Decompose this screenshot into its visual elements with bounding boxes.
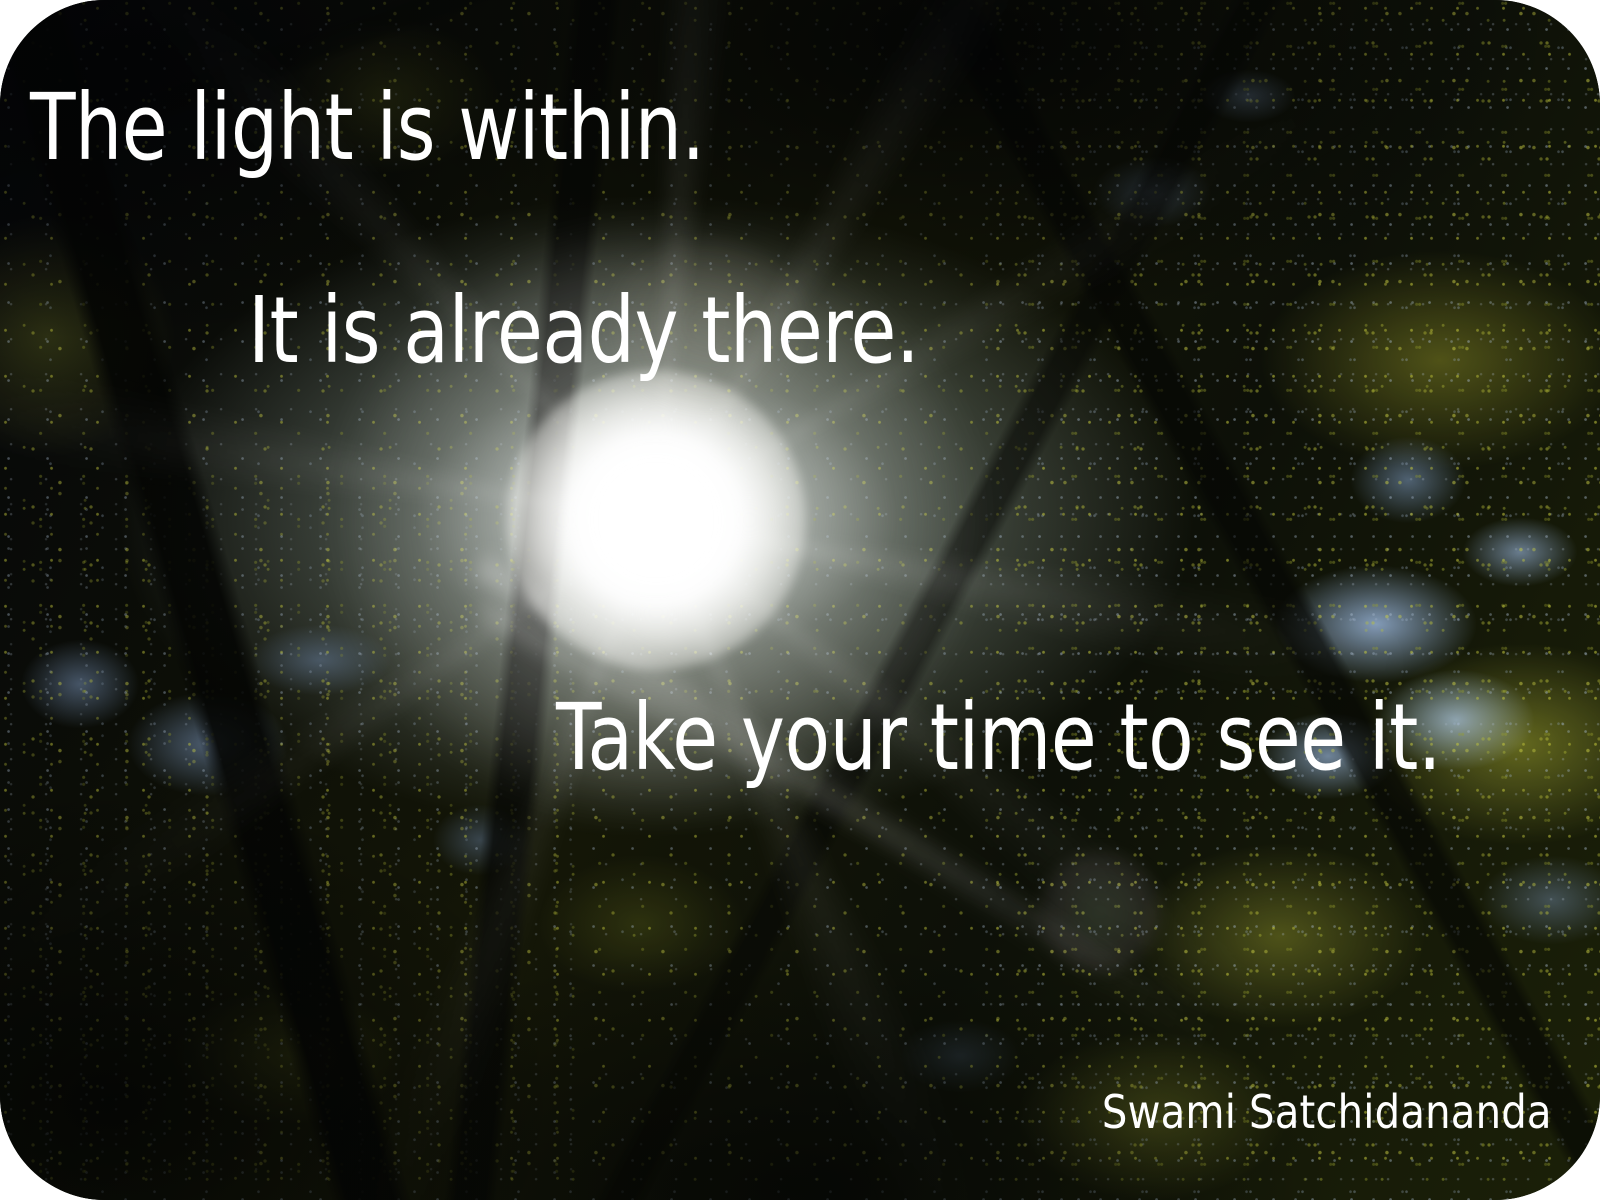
quote-line-3: Take your time to see it. xyxy=(556,684,1441,791)
canopy-photograph: The light is within. It is already there… xyxy=(0,0,1600,1200)
quote-line-2: It is already there. xyxy=(248,277,919,384)
quote-poster: The light is within. It is already there… xyxy=(0,0,1600,1200)
quote-line-1: The light is within. xyxy=(30,74,705,181)
quote-attribution: Swami Satchidananda xyxy=(1102,1085,1552,1139)
lens-flare-ghost xyxy=(1040,852,1160,972)
